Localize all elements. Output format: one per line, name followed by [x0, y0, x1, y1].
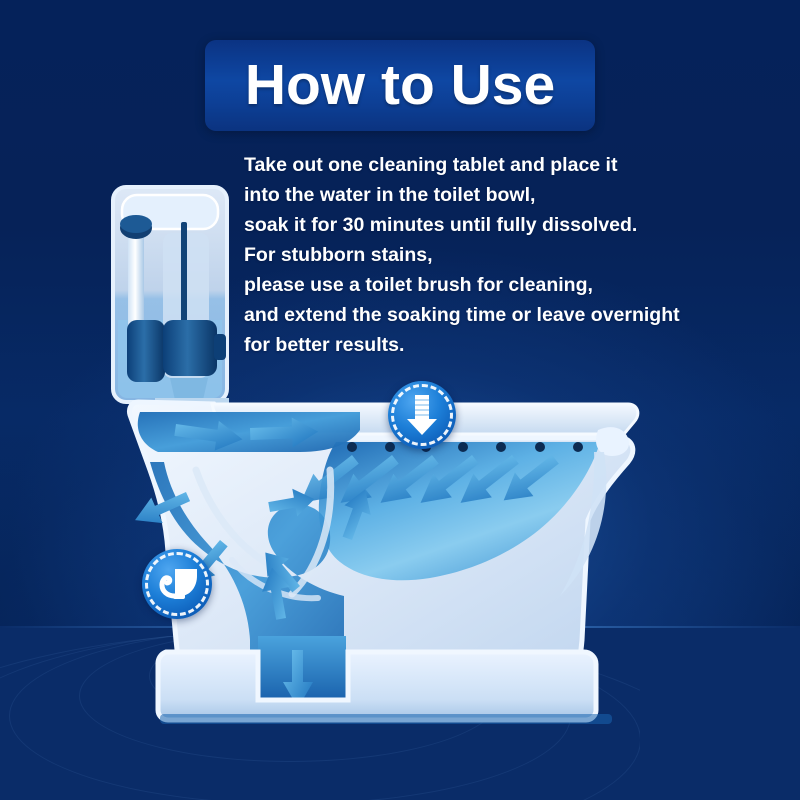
- instruction-line: soak it for 30 minutes until fully disso…: [244, 210, 724, 240]
- down-arrow-icon: [402, 393, 442, 437]
- instruction-line: for better results.: [244, 330, 724, 360]
- toilet-base: [158, 652, 612, 724]
- instruction-graphic: How to Use Take out one cleaning tablet …: [0, 0, 800, 800]
- instruction-line: Take out one cleaning tablet and place i…: [244, 150, 724, 180]
- toilet-siphon-icon: [155, 567, 199, 601]
- instruction-line: please use a toilet brush for cleaning,: [244, 270, 724, 300]
- instruction-line: into the water in the toilet bowl,: [244, 180, 724, 210]
- cistern-tank: [113, 187, 227, 402]
- page-title: How to Use: [245, 57, 555, 114]
- instruction-line: and extend the soaking time or leave ove…: [244, 300, 724, 330]
- tank-to-bowl-channel: [138, 412, 360, 454]
- title-banner: How to Use: [205, 40, 595, 131]
- instruction-line: For stubborn stains,: [244, 240, 724, 270]
- water-down-badge: [388, 381, 456, 449]
- instruction-text-block: Take out one cleaning tablet and place i…: [244, 150, 724, 360]
- siphon-trap-badge: [142, 549, 212, 619]
